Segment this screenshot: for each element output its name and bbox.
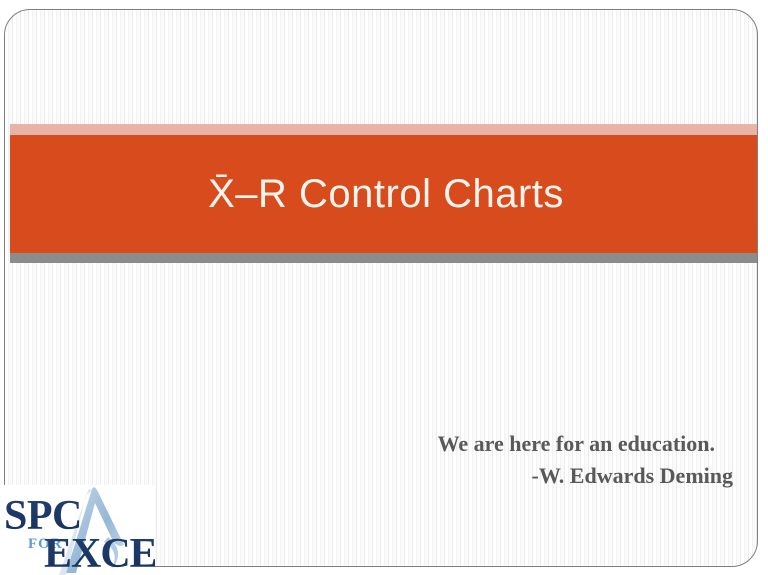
quote-text: We are here for an education. <box>263 428 733 460</box>
presentation-slide: X̄–R Control Charts We are here for an e… <box>0 0 768 575</box>
logo-artwork: SPC FOR EXCEL <box>0 485 155 575</box>
title-band-orange: X̄–R Control Charts <box>10 135 758 253</box>
title-band: X̄–R Control Charts <box>10 124 758 263</box>
title-band-pink-accent <box>10 124 758 135</box>
quote-block: We are here for an education. -W. Edward… <box>263 428 733 492</box>
slide-canvas: X̄–R Control Charts We are here for an e… <box>4 9 758 567</box>
title-band-gray-accent <box>10 253 758 263</box>
quote-attribution: -W. Edwards Deming <box>263 460 733 492</box>
logo-word-excel: EXCEL <box>44 531 155 575</box>
page-title: X̄–R Control Charts <box>208 174 564 214</box>
spc-for-excel-logo: SPC FOR EXCEL <box>0 485 155 575</box>
